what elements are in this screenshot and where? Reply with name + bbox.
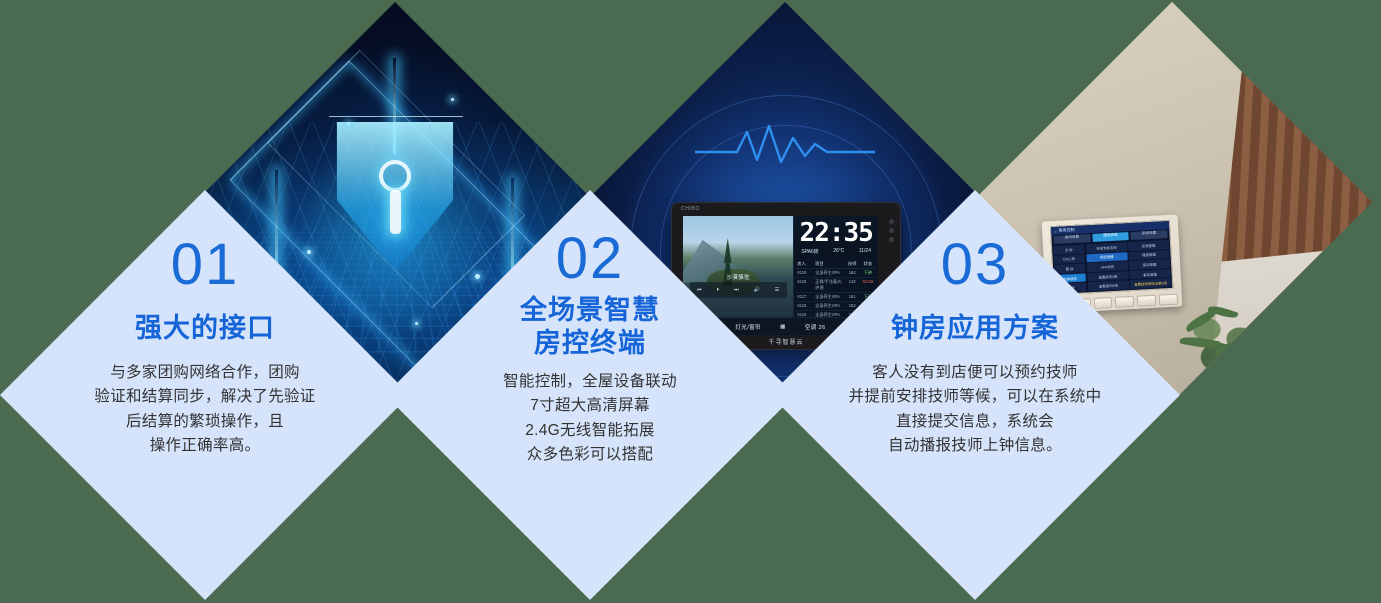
col-header-state: 状态 bbox=[861, 261, 875, 267]
card-body-line: 客人没有到店便可以预约技师 bbox=[849, 361, 1102, 385]
infographic-canvas: 蓝色科技风格的发光盾牌与电路板 CHIBO bbox=[0, 0, 1381, 603]
cyber-image-alt: 蓝色科技风格的发光盾牌与电路板 bbox=[195, 2, 196, 3]
prev-icon[interactable]: ⏮ bbox=[697, 287, 702, 293]
lcd-side-button[interactable]: 圈 钟 bbox=[1054, 264, 1085, 274]
playlist-icon[interactable]: ☰ bbox=[775, 287, 779, 293]
table-row: 6119全身养生SPA162下钟 bbox=[796, 269, 876, 278]
lcd-menu-grid[interactable]: 在线专家咨询区域管理预定提醒楼层管理SPA房间房间管理查看房间2组客系管理查看房… bbox=[1085, 239, 1173, 292]
card-title-line: 房控终端 bbox=[520, 327, 660, 360]
cell-tech: 162 bbox=[846, 270, 859, 276]
cell-room: 6118 bbox=[797, 279, 813, 291]
pulse-wave-icon bbox=[695, 122, 875, 168]
tablet-brand-label: CHIBO bbox=[681, 206, 700, 212]
card-title-line: 全场景智慧 bbox=[520, 294, 660, 327]
volume-icon[interactable]: 🔊 bbox=[754, 287, 760, 293]
room-label: SPA6房 bbox=[801, 248, 818, 255]
card-body-line: 2.4G无线智能拓展 bbox=[503, 419, 677, 443]
lcd-side-button[interactable]: 点 钟 bbox=[1053, 244, 1084, 254]
lcd-menu-item[interactable]: 区域管理 bbox=[1128, 240, 1170, 251]
room-image-alt: 墙面安装的钟房控制面板实景照片 bbox=[972, 2, 973, 3]
footer-button-aircon[interactable]: 空调 26 bbox=[803, 323, 828, 331]
card-body-line: 后结算的繁琐操作，且 bbox=[94, 410, 315, 434]
lcd-menu-item[interactable]: 在线专家咨询 bbox=[1086, 242, 1128, 253]
col-header-item: 项目 bbox=[815, 261, 844, 267]
card-body-line: 众多色彩可以搭配 bbox=[503, 443, 677, 467]
card-body-line: 并提前安排技师等候，可以在系统中 bbox=[849, 385, 1102, 409]
lcd-header-label: 客房控制 bbox=[1058, 227, 1074, 234]
clock-widget: 22:35 SPA6房 26°C 11/24 bbox=[794, 216, 878, 258]
cell-state: 01:50 bbox=[861, 279, 875, 291]
hard-key[interactable] bbox=[1159, 294, 1178, 306]
lcd-menu-item[interactable]: 查看技师排班记录2组 bbox=[1130, 278, 1172, 289]
card-number-03: 03 bbox=[941, 236, 1010, 294]
clock-time: 22:35 bbox=[798, 221, 874, 246]
cell-item: 正骨/手法泰式护理 bbox=[815, 279, 844, 291]
card-body-01: 与多家团购网络合作，团购 验证和结算同步，解决了先验证 后结算的繁琐操作，且 操… bbox=[94, 361, 315, 459]
lcd-menu-item[interactable]: 查看房间2组 bbox=[1088, 281, 1130, 292]
card-body-line: 7寸超大高清屏幕 bbox=[503, 394, 677, 418]
spark-dot bbox=[451, 98, 454, 101]
media-control-bar[interactable]: ⏮ ⏵ ⏭ 🔊 ☰ bbox=[690, 282, 787, 298]
col-header-room: 房人 bbox=[797, 261, 813, 267]
card-title-01: 强大的接口 bbox=[135, 312, 275, 345]
cell-state: 下钟 bbox=[861, 270, 875, 276]
table-row: 6118正骨/手法泰式护理14201:50 bbox=[796, 278, 876, 293]
potted-plant bbox=[1174, 302, 1284, 394]
card-title-03: 钟房应用方案 bbox=[891, 312, 1059, 345]
spark-dot bbox=[475, 274, 480, 279]
card-body-line: 智能控制，全屋设备联动 bbox=[503, 370, 677, 394]
card-body-line: 操作正确率高。 bbox=[94, 434, 315, 458]
side-button[interactable] bbox=[889, 219, 894, 224]
cell-tech: 142 bbox=[846, 279, 859, 291]
card-body-line: 验证和结算同步，解决了先验证 bbox=[94, 385, 315, 409]
side-button[interactable] bbox=[889, 237, 894, 242]
date-label: 11/24 bbox=[859, 248, 871, 254]
play-icon[interactable]: ⏵ bbox=[717, 287, 720, 293]
cell-item: 全身养生SPA bbox=[815, 303, 844, 309]
side-button[interactable] bbox=[889, 228, 894, 233]
cell-item: 全身养生SPA bbox=[815, 270, 844, 276]
cell-room: 6119 bbox=[797, 270, 813, 276]
card-body-line: 自动播报技师上钟信息。 bbox=[849, 434, 1102, 458]
col-header-tech: 技师 bbox=[846, 261, 859, 267]
spark-dot bbox=[347, 122, 350, 125]
card-body-02: 智能控制，全屋设备联动 7寸超大高清屏幕 2.4G无线智能拓展 众多色彩可以搭配 bbox=[503, 370, 677, 468]
next-icon[interactable]: ⏭ bbox=[734, 287, 739, 293]
footer-button-light[interactable]: 灯光/窗帘 bbox=[733, 323, 763, 331]
lcd-side-button[interactable]: CALL钟 bbox=[1053, 254, 1084, 264]
cell-room: 6116 bbox=[797, 303, 813, 309]
card-title-02: 全场景智慧 房控终端 bbox=[520, 294, 660, 360]
tablet-image-alt: 房控终端平板设备 bbox=[585, 2, 586, 3]
card-number-02: 02 bbox=[556, 230, 625, 288]
tablet-side-buttons[interactable] bbox=[887, 219, 895, 242]
cell-tech: 182 bbox=[846, 303, 859, 309]
cell-item: 全身养生SPA bbox=[815, 294, 844, 300]
spark-dot bbox=[415, 322, 418, 325]
card-body-line: 与多家团购网络合作，团购 bbox=[94, 361, 315, 385]
card-body-line: 直接提交信息，系统会 bbox=[849, 410, 1102, 434]
spark-dot bbox=[307, 250, 311, 254]
leaf bbox=[1180, 335, 1221, 351]
tablet-screen[interactable]: 沙漠骆驼 ⏮ ⏵ ⏭ 🔊 ☰ 22:35 S bbox=[683, 216, 878, 317]
table-header-row: 房人 项目 技师 状态 bbox=[796, 260, 876, 269]
hard-key[interactable] bbox=[1137, 295, 1156, 307]
leaf bbox=[1213, 337, 1250, 356]
cell-room: 6117 bbox=[797, 294, 813, 300]
temperature-label: 26°C bbox=[833, 248, 844, 254]
hard-key[interactable] bbox=[1093, 297, 1112, 309]
apps-grid-icon[interactable]: ▦ bbox=[778, 324, 788, 330]
card-number-01: 01 bbox=[171, 236, 240, 294]
cell-tech: 161 bbox=[846, 294, 859, 300]
table-row: 6117全身养生SPA161下钟 bbox=[796, 293, 876, 302]
now-playing-label: 沙漠骆驼 bbox=[683, 273, 793, 281]
card-body-03: 客人没有到店便可以预约技师 并提前安排技师等候，可以在系统中 直接提交信息，系统… bbox=[849, 361, 1102, 459]
home-icon: ⌂ bbox=[1054, 228, 1057, 233]
hard-key[interactable] bbox=[1115, 296, 1134, 308]
